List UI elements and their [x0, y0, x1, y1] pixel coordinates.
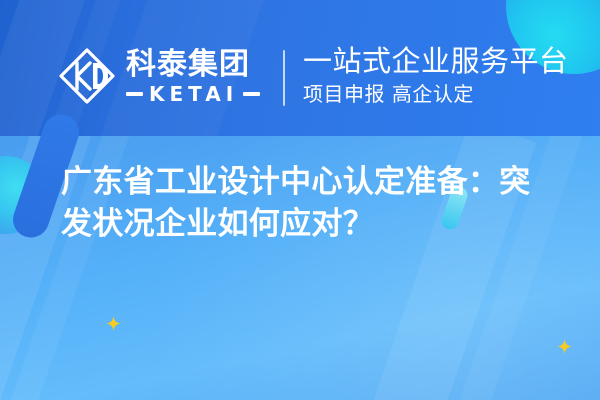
dash-right-icon [243, 92, 260, 96]
article-headline: 广东省工业设计中心认定准备：突 发状况企业如何应对？ [61, 161, 561, 245]
headline-line: 广东省工业设计中心认定准备：突 [61, 161, 561, 203]
sparkle-icon [557, 339, 572, 354]
header-tagline: 一站式企业服务平台 项目申报 高企认定 [303, 44, 583, 106]
brand-name-en: KETAI [149, 84, 238, 104]
tagline-secondary: 项目申报 高企认定 [303, 82, 583, 106]
ketai-diamond-monogram-icon [57, 46, 117, 106]
article-cover-banner: 科泰集团 KETAI 一站式企业服务平台 项目申报 高企认定 广东省工业设计中心… [0, 0, 600, 400]
headline-line: 发状况企业如何应对？ [61, 203, 561, 245]
brand-logo-wordmark: 科泰集团 KETAI [126, 48, 260, 104]
sparkle-icon [106, 316, 121, 331]
dash-left-icon [126, 92, 143, 96]
brand-name-cn: 科泰集团 [126, 48, 260, 81]
brand-name-en-row: KETAI [126, 84, 260, 104]
brand-logo[interactable]: 科泰集团 KETAI [57, 46, 260, 106]
header-divider [283, 50, 285, 106]
tagline-primary: 一站式企业服务平台 [303, 44, 583, 78]
